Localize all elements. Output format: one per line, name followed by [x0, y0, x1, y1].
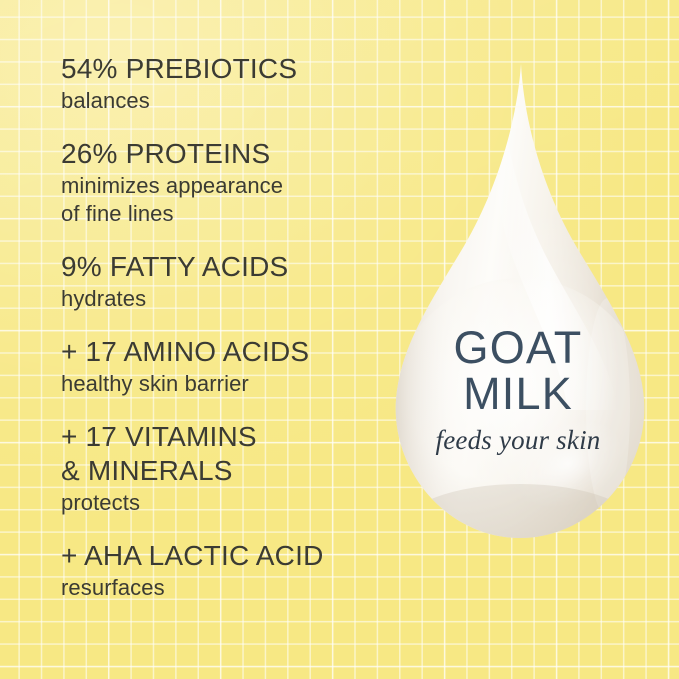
- ingredient-description: balances: [61, 87, 391, 115]
- ingredient-item: + 17 AMINO ACIDS healthy skin barrier: [61, 335, 391, 398]
- ingredient-infographic: 54% PREBIOTICS balances 26% PROTEINS min…: [0, 0, 679, 679]
- ingredient-title: 9% FATTY ACIDS: [61, 250, 391, 284]
- ingredient-description: protects: [61, 489, 391, 517]
- droplet-rim-light: [586, 298, 630, 518]
- ingredient-description: healthy skin barrier: [61, 370, 391, 398]
- ingredient-item: 26% PROTEINS minimizes appearance of fin…: [61, 137, 391, 228]
- ingredient-title: 54% PREBIOTICS: [61, 52, 391, 86]
- milk-droplet-icon: [372, 60, 664, 550]
- ingredient-description: minimizes appearance of fine lines: [61, 172, 391, 228]
- ingredient-title: + 17 VITAMINS & MINERALS: [61, 420, 391, 488]
- ingredient-title: + 17 AMINO ACIDS: [61, 335, 391, 369]
- ingredient-list: 54% PREBIOTICS balances 26% PROTEINS min…: [61, 52, 391, 602]
- ingredient-title: + AHA LACTIC ACID: [61, 539, 391, 573]
- ingredient-item: + AHA LACTIC ACID resurfaces: [61, 539, 391, 602]
- ingredient-item: 54% PREBIOTICS balances: [61, 52, 391, 115]
- ingredient-description: hydrates: [61, 285, 391, 313]
- ingredient-title: 26% PROTEINS: [61, 137, 391, 171]
- ingredient-description: resurfaces: [61, 574, 391, 602]
- ingredient-item: 9% FATTY ACIDS hydrates: [61, 250, 391, 313]
- ingredient-item: + 17 VITAMINS & MINERALS protects: [61, 420, 391, 517]
